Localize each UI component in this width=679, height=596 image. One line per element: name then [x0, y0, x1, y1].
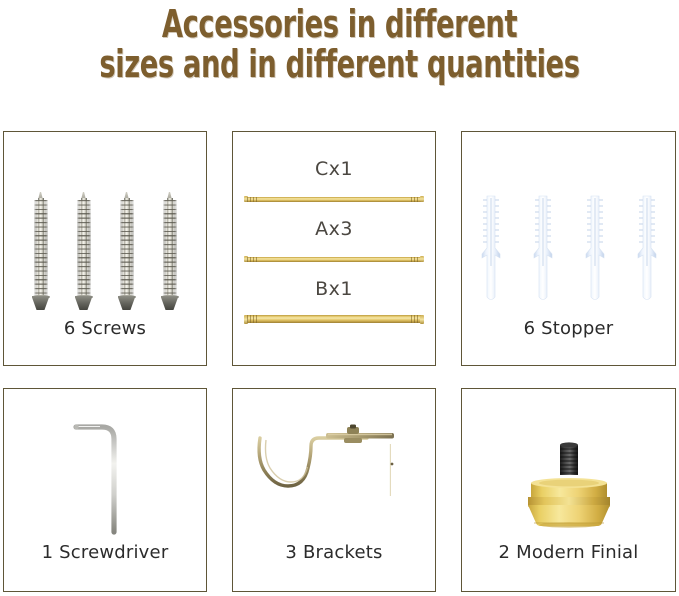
rod-c [233, 182, 435, 216]
caption-brackets: 3 Brackets [233, 542, 435, 563]
wall-anchor-icon [478, 194, 504, 304]
allen-key-icon [70, 417, 140, 542]
rod-label-a: Ax3 [233, 216, 435, 242]
screw-icon [162, 192, 178, 310]
rod-a [233, 242, 435, 276]
accessories-grid: 6 Screws Cx1 Ax3 [3, 131, 676, 592]
rod-b [233, 302, 435, 336]
rod-label-b: Bx1 [233, 276, 435, 302]
title-line-2: sizes and in different quantities [68, 44, 611, 84]
rod-icon [244, 197, 424, 202]
cell-screws: 6 Screws [3, 131, 207, 366]
curtain-bracket-icon [254, 420, 414, 530]
caption-stoppers: 6 Stopper [462, 318, 675, 339]
rod-icon [244, 257, 424, 262]
finial-group [462, 429, 675, 539]
rod-label-c: Cx1 [233, 156, 435, 182]
rod-icon [244, 315, 424, 323]
cell-screwdriver: 1 Screwdriver [3, 388, 207, 592]
finial-icon [509, 439, 629, 539]
wall-anchor-icon [530, 194, 556, 304]
bracket-group [233, 415, 435, 535]
caption-finial: 2 Modern Finial [462, 542, 675, 563]
cell-brackets: 3 Brackets [232, 388, 436, 592]
screw-group [4, 192, 206, 312]
screw-icon [119, 192, 135, 310]
wall-anchor-icon [634, 194, 660, 304]
caption-screwdriver: 1 Screwdriver [4, 542, 206, 563]
screw-icon [76, 192, 92, 310]
cell-finial: 2 Modern Finial [461, 388, 676, 592]
cell-stoppers: 6 Stopper [461, 131, 676, 366]
cell-rods: Cx1 Ax3 Bx1 [232, 131, 436, 366]
wall-anchor-icon [582, 194, 608, 304]
stopper-group [462, 194, 675, 309]
rod-group: Cx1 Ax3 Bx1 [233, 156, 435, 346]
page-title: Accessories in different sizes and in di… [0, 4, 679, 84]
caption-screws: 6 Screws [4, 318, 206, 339]
allen-key-group [4, 417, 206, 547]
title-line-1: Accessories in different [68, 4, 611, 44]
screw-icon [33, 192, 49, 310]
